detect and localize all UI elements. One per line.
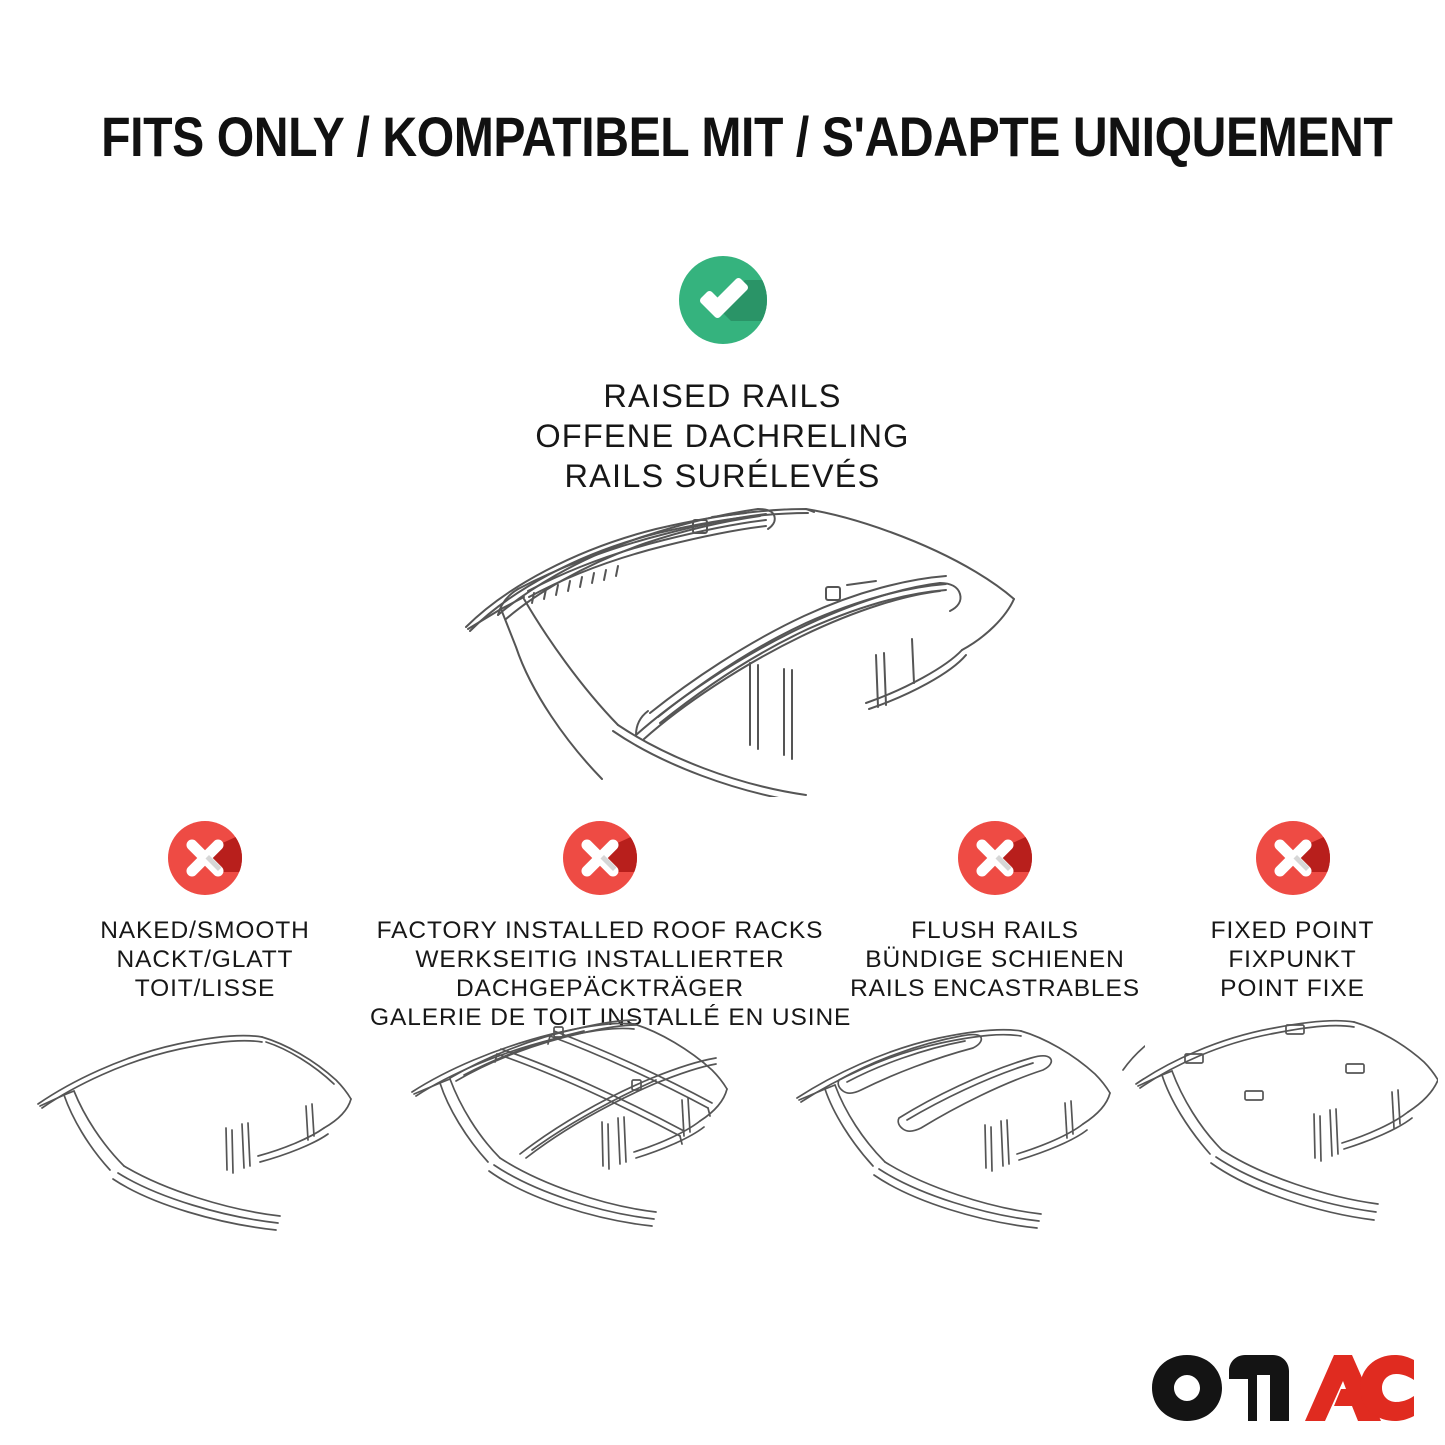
car-roof-with-raised-rails-illustration	[406, 487, 1046, 797]
omac-logo-letter-m	[1229, 1355, 1289, 1421]
label-line-fr: TOIT/LISSE	[45, 974, 365, 1003]
label-line-de-1: WERKSEITIG INSTALLIERTER	[370, 945, 830, 974]
label-line-en: FACTORY INSTALLED ROOF RACKS	[370, 916, 830, 945]
label-line-de: BÜNDIGE SCHIENEN	[835, 945, 1155, 974]
car-roof-with-factory-crossbars-illustration	[392, 1018, 762, 1246]
label-line-de-2: DACHGEPÄCKTRÄGER	[370, 974, 830, 1003]
label-line-en: FLUSH RAILS	[835, 916, 1155, 945]
label-line-fr: RAILS ENCASTRABLES	[835, 974, 1155, 1003]
column-label-naked-smooth: NAKED/SMOOTH NACKT/GLATT TOIT/LISSE	[45, 916, 365, 1003]
omac-logo-letter-o	[1152, 1355, 1222, 1421]
car-roof-with-fixed-points-illustration	[1128, 1018, 1438, 1243]
car-roof-bare-illustration	[18, 1018, 368, 1243]
cross-circle-icon	[560, 818, 640, 898]
compatible-label: RAISED RAILS OFFENE DACHRELING RAILS SUR…	[0, 376, 1445, 496]
compatible-section: RAISED RAILS OFFENE DACHRELING RAILS SUR…	[0, 252, 1445, 496]
omac-logo	[1149, 1353, 1417, 1423]
label-line-de: NACKT/GLATT	[45, 945, 365, 974]
incompatible-column-factory-roof-racks: FACTORY INSTALLED ROOF RACKS WERKSEITIG …	[370, 818, 830, 1032]
incompatible-column-naked-smooth: NAKED/SMOOTH NACKT/GLATT TOIT/LISSE	[45, 818, 365, 1003]
label-line-en: NAKED/SMOOTH	[45, 916, 365, 945]
page-title: FITS ONLY / KOMPATIBEL MIT / S'ADAPTE UN…	[101, 104, 1344, 169]
label-line-de: FIXPUNKT	[1150, 945, 1435, 974]
column-label-factory-roof-racks: FACTORY INSTALLED ROOF RACKS WERKSEITIG …	[370, 916, 830, 1032]
column-label-flush-rails: FLUSH RAILS BÜNDIGE SCHIENEN RAILS ENCAS…	[835, 916, 1155, 1003]
car-roof-with-flush-rails-illustration	[775, 1018, 1145, 1243]
cross-circle-icon	[165, 818, 245, 898]
incompatible-column-flush-rails: FLUSH RAILS BÜNDIGE SCHIENEN RAILS ENCAS…	[835, 818, 1155, 1003]
label-line-en: FIXED POINT	[1150, 916, 1435, 945]
incompatible-column-fixed-point: FIXED POINT FIXPUNKT POINT FIXE	[1150, 818, 1435, 1003]
column-label-fixed-point: FIXED POINT FIXPUNKT POINT FIXE	[1150, 916, 1435, 1003]
check-circle-icon	[675, 252, 771, 348]
label-line-fr: POINT FIXE	[1150, 974, 1435, 1003]
cross-circle-icon	[955, 818, 1035, 898]
compatible-label-line-de: OFFENE DACHRELING	[0, 416, 1445, 456]
cross-circle-icon	[1253, 818, 1333, 898]
compatible-label-line-en: RAISED RAILS	[0, 376, 1445, 416]
